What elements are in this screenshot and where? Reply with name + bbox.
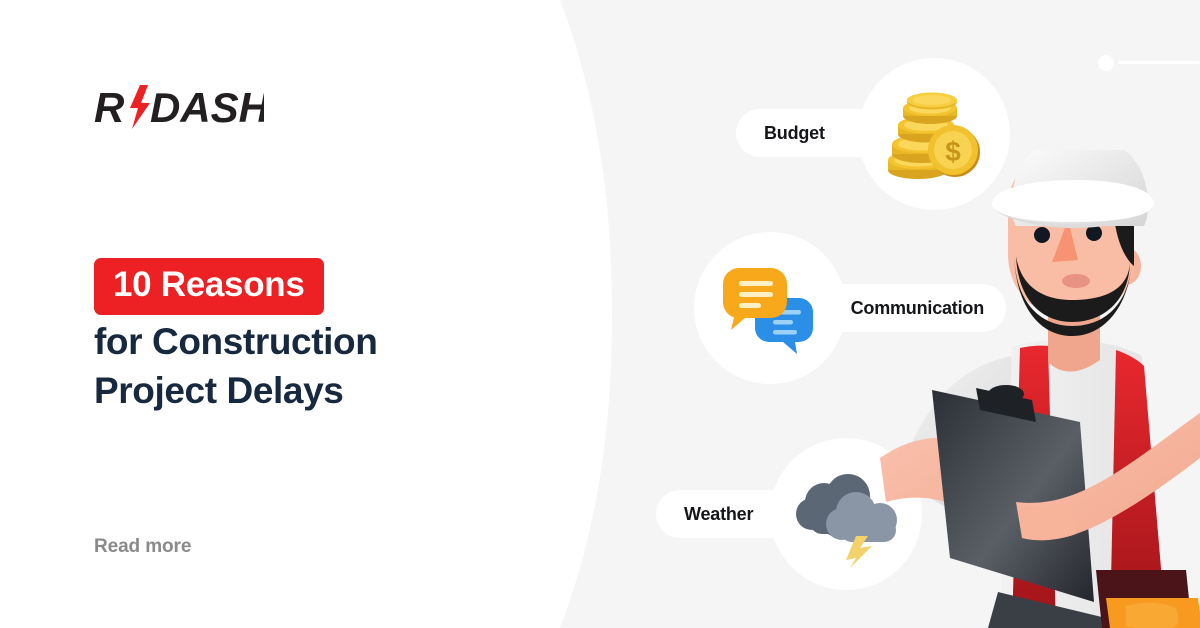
construction-worker-with-clipboard [880, 150, 1200, 628]
chat-bubbles-icon [721, 264, 817, 356]
badge-label: 10 Reasons [113, 265, 305, 304]
clipboard-clip-knob [988, 385, 1024, 403]
poster-canvas: R DASH 10 Reasons for Construction Proje… [0, 0, 1200, 628]
brand-logo-r: R [94, 84, 125, 131]
headline-line-2: Project Delays [94, 367, 534, 416]
feature-label-budget: Budget [764, 123, 825, 144]
lightning-bolt-icon [130, 85, 150, 129]
worker-hand [1018, 502, 1076, 540]
page-title: for Construction Project Delays [94, 318, 534, 416]
decoration-line [1118, 61, 1200, 64]
worker-eye-left [1034, 227, 1050, 243]
headline-line-1: for Construction [94, 321, 377, 362]
worker-belt-pocket [1126, 602, 1178, 628]
decoration-dot [1098, 55, 1114, 71]
read-more-link[interactable]: Read more [94, 536, 191, 558]
worker-mouth [1062, 274, 1090, 288]
reasons-count-badge: 10 Reasons [94, 258, 324, 315]
left-content-column: R DASH 10 Reasons for Construction Proje… [94, 0, 564, 628]
feature-label-weather: Weather [684, 504, 753, 525]
brand-logo-dash: DASH [150, 84, 264, 131]
brand-logo[interactable]: R DASH [94, 83, 264, 131]
